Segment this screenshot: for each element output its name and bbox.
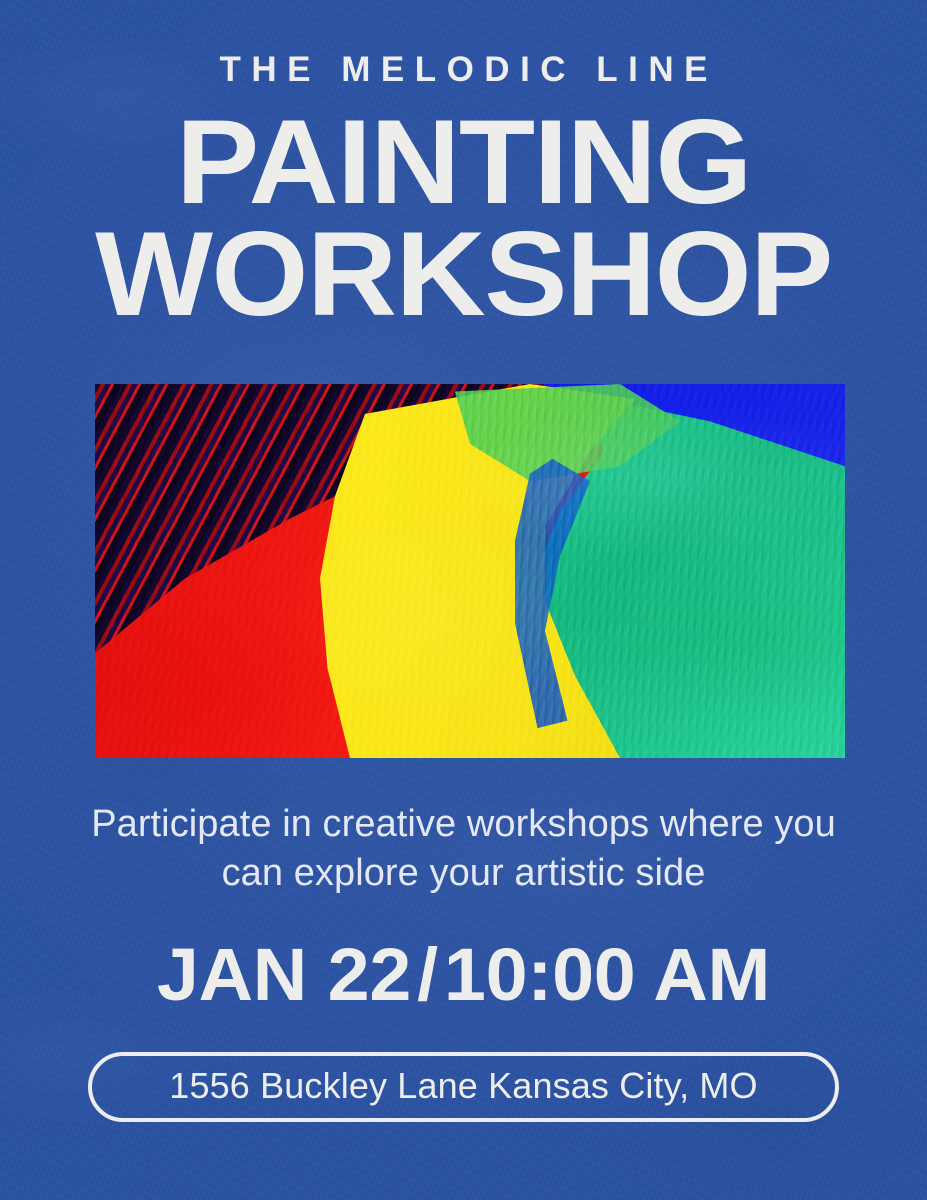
poster-kicker: THE MELODIC LINE	[0, 52, 927, 87]
poster-title-line-2: WORKSHOP	[0, 220, 927, 328]
poster-title-line-1: PAINTING	[0, 108, 927, 216]
poster-datetime: JAN 22/10:00 AM	[0, 938, 927, 1012]
poster-time: 10:00 AM	[444, 933, 770, 1016]
poster-canvas: THE MELODIC LINE PAINTING WORKSHOP Parti…	[0, 0, 927, 1200]
poster-address: 1556 Buckley Lane Kansas City, MO	[169, 1068, 757, 1104]
poster-date: JAN 22	[157, 933, 411, 1016]
address-pill: 1556 Buckley Lane Kansas City, MO	[88, 1052, 839, 1122]
artwork-photo	[95, 384, 845, 758]
datetime-separator: /	[411, 933, 444, 1016]
poster-title: PAINTING WORKSHOP	[0, 108, 927, 328]
poster-description: Participate in creative workshops where …	[84, 800, 844, 897]
paint-sheen-highlight	[95, 384, 845, 758]
